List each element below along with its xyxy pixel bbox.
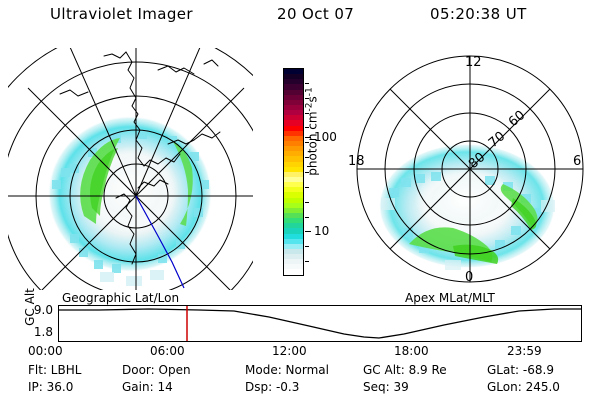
status-field: IP: 36.0 bbox=[28, 380, 73, 394]
colorbar-minor-tick bbox=[305, 261, 309, 262]
colorbar-minor-tick bbox=[305, 202, 309, 203]
colorbar-segment bbox=[284, 269, 303, 274]
status-field: GLon: 245.0 bbox=[487, 380, 560, 394]
status-field: Gain: 14 bbox=[122, 380, 173, 394]
mlt-label-6: 6 bbox=[573, 154, 581, 169]
altitude-tick-low: 1.8 bbox=[19, 325, 53, 339]
colorbar-minor-tick bbox=[305, 246, 309, 247]
magnetic-dial-panel[interactable]: 12 18 6 0 60 70 80 bbox=[345, 48, 595, 290]
altitude-curve bbox=[59, 309, 581, 338]
time-axis-tick-label: 06:00 bbox=[150, 344, 185, 358]
colorbar-gradient[interactable] bbox=[283, 68, 304, 276]
mlat-label-60: 60 bbox=[506, 108, 528, 130]
time-axis-tick-label: 00:00 bbox=[28, 344, 63, 358]
header-bar: Ultraviolet Imager 20 Oct 07 05:20:38 UT bbox=[0, 5, 600, 29]
geographic-map-svg bbox=[8, 48, 253, 290]
mlt-spokes bbox=[357, 56, 583, 282]
magnetic-dial-svg: 12 18 6 0 60 70 80 bbox=[345, 48, 595, 290]
time-axis-tick-label: 23:59 bbox=[507, 344, 542, 358]
colorbar-minor-tick bbox=[305, 157, 309, 158]
colorbar-tick bbox=[305, 137, 311, 138]
mlt-label-18: 18 bbox=[348, 154, 365, 169]
colorbar-minor-tick bbox=[305, 187, 309, 188]
status-field: Flt: LBHL bbox=[28, 363, 81, 377]
colorbar-group[interactable]: photon cm-2s-1 10010 bbox=[258, 66, 343, 281]
mlt-label-0: 0 bbox=[465, 270, 473, 285]
time-axis-tick-label: 18:00 bbox=[394, 344, 429, 358]
colorbar-unit-exp1: -2 bbox=[305, 102, 315, 111]
status-field: Door: Open bbox=[122, 363, 191, 377]
colorbar-tick-label: 10 bbox=[314, 224, 329, 238]
status-field: Seq: 39 bbox=[363, 380, 409, 394]
colorbar-minor-tick bbox=[305, 83, 309, 84]
colorbar-unit-exp2: -1 bbox=[305, 87, 315, 96]
geographic-panel-caption: Geographic Lat/Lon bbox=[62, 291, 179, 305]
status-readout: Flt: LBHLDoor: OpenMode: NormalGC Alt: 8… bbox=[0, 363, 600, 399]
status-field: Dsp: -0.3 bbox=[245, 380, 299, 394]
observation-time: 05:20:38 UT bbox=[430, 5, 527, 23]
altitude-tick-high: 9.0 bbox=[19, 303, 53, 317]
observation-date: 20 Oct 07 bbox=[277, 5, 354, 23]
colorbar-minor-tick bbox=[305, 113, 309, 114]
mlt-label-12: 12 bbox=[465, 55, 482, 70]
time-axis-tick-label: 12:00 bbox=[272, 344, 307, 358]
colorbar-minor-tick bbox=[305, 217, 309, 218]
altitude-timeline-panel[interactable]: GC Alt 9.0 1.8 bbox=[58, 305, 582, 342]
magnetic-panel-caption: Apex MLat/MLT bbox=[405, 291, 495, 305]
status-field: Mode: Normal bbox=[245, 363, 329, 377]
colorbar-minor-tick bbox=[305, 127, 309, 128]
colorbar-minor-tick bbox=[305, 142, 309, 143]
altitude-curve-svg bbox=[59, 306, 581, 341]
instrument-title: Ultraviolet Imager bbox=[50, 5, 193, 23]
colorbar-minor-tick bbox=[305, 98, 309, 99]
colorbar-minor-tick bbox=[305, 231, 309, 232]
geographic-map-panel[interactable] bbox=[8, 48, 253, 290]
status-field: GC Alt: 8.9 Re bbox=[363, 363, 447, 377]
status-field: GLat: -68.9 bbox=[487, 363, 554, 377]
colorbar-minor-tick bbox=[305, 172, 309, 173]
colorbar-tick-label: 100 bbox=[314, 130, 337, 144]
uv-imager-window: Ultraviolet Imager 20 Oct 07 05:20:38 UT bbox=[0, 0, 600, 400]
